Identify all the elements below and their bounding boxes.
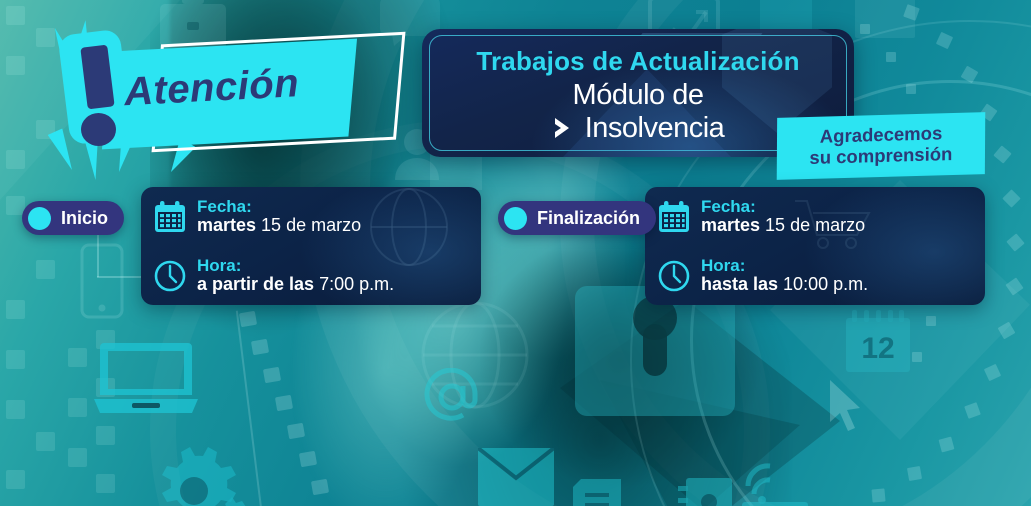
package-box-icon	[855, 0, 915, 38]
connector-line	[97, 235, 99, 277]
hora-value-bold: a partir de las	[197, 274, 314, 294]
clock-icon	[153, 259, 187, 293]
smartphone-icon	[80, 243, 124, 319]
wifi-router-icon	[740, 452, 810, 510]
pill-finalizacion-label: Finalización	[537, 208, 640, 229]
card-row-hora: Hora: a partir de las 7:00 p.m.	[141, 246, 481, 305]
fecha-value-bold: martes	[197, 215, 256, 235]
title-line-insolvencia: Insolvencia	[585, 112, 725, 145]
card-row-fecha: Fecha: martes 15 de marzo	[645, 187, 985, 246]
calendar-12-icon: 12	[846, 310, 910, 372]
title-line-primary: Trabajos de Actualización	[422, 46, 854, 77]
thanks-line-2: su comprensión	[809, 144, 952, 169]
calendar-icon	[153, 200, 187, 234]
calendar-icon	[657, 200, 691, 234]
attention-banner: Atención	[42, 18, 402, 168]
cursor-arrow-icon	[828, 378, 874, 434]
globe-icon	[420, 300, 530, 410]
svg-text:12: 12	[861, 332, 894, 365]
fecha-value-bold: martes	[701, 215, 760, 235]
laptop-icon	[92, 341, 200, 421]
schedule-card-finalizacion: Fecha: martes 15 de marzo Hora: hasta la…	[645, 187, 985, 305]
background-facet	[600, 380, 800, 510]
hora-value-rest: 7:00 p.m.	[314, 274, 394, 294]
card-row-fecha: Fecha: martes 15 de marzo	[141, 187, 481, 246]
background-arc	[150, 120, 770, 510]
fecha-label: Fecha:	[701, 198, 865, 216]
poster-canvas: 12	[0, 0, 1031, 510]
hora-value-rest: 10:00 p.m.	[778, 274, 868, 294]
pill-inicio: Inicio	[22, 201, 124, 235]
fecha-value-rest: 15 de marzo	[760, 215, 865, 235]
exclamation-dot-shape	[81, 113, 116, 146]
circle-dot-icon	[28, 207, 51, 230]
pill-inicio-label: Inicio	[61, 208, 108, 229]
at-sign-icon	[423, 368, 481, 426]
title-line-module: Módulo de	[422, 81, 854, 111]
background-facet	[560, 300, 840, 510]
chevron-right-logo-icon	[552, 115, 578, 141]
envelope-icon	[478, 448, 554, 506]
thanks-box: Agradecemos su comprensión	[777, 112, 986, 180]
card-row-hora: Hora: hasta las 10:00 p.m.	[645, 246, 985, 305]
hora-label: Hora:	[701, 257, 868, 275]
fecha-value-rest: 15 de marzo	[256, 215, 361, 235]
schedule-card-inicio: Fecha: martes 15 de marzo Hora: a partir…	[141, 187, 481, 305]
hora-value-bold: hasta las	[701, 274, 778, 294]
gears-icon	[148, 447, 258, 510]
clock-icon	[657, 259, 691, 293]
pill-finalizacion: Finalización	[498, 201, 656, 235]
fecha-label: Fecha:	[197, 198, 361, 216]
bottom-strip	[0, 506, 1031, 510]
hora-label: Hora:	[197, 257, 394, 275]
circle-dot-icon	[504, 207, 527, 230]
